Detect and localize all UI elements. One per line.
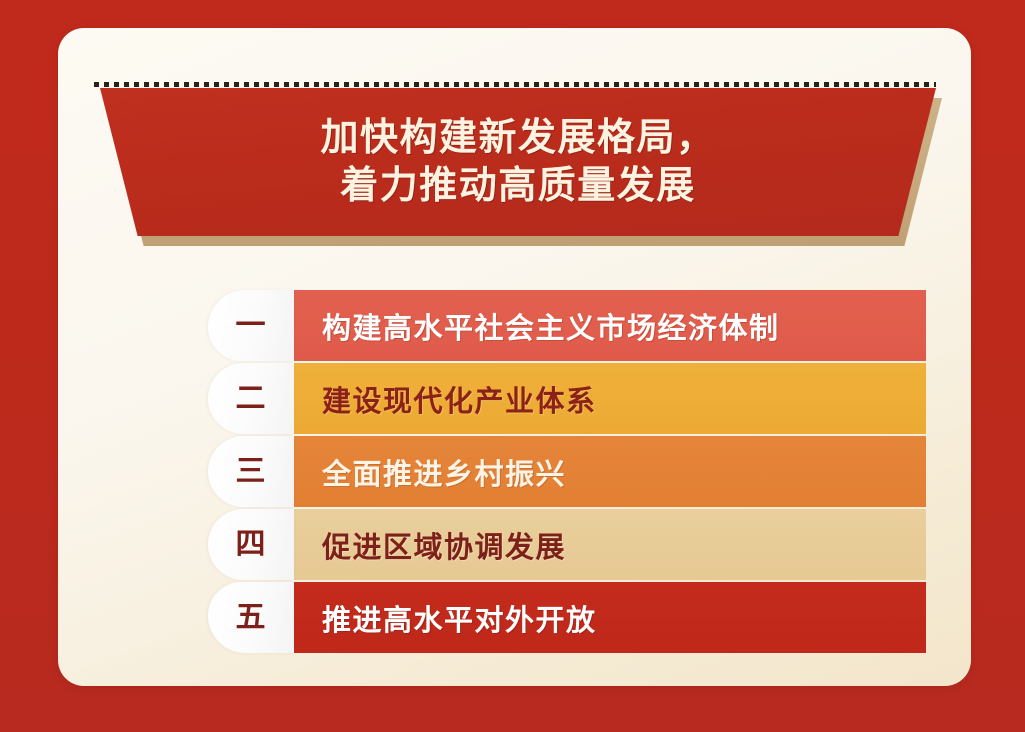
list-item-label: 全面推进乡村振兴 [322,451,566,493]
poster-stage: 加快构建新发展格局， 着力推动高质量发展 一 构建高水平社会主义市场经济体制 二… [0,0,1025,732]
list-item-bar: 建设现代化产业体系 [294,363,926,434]
poster-card: 加快构建新发展格局， 着力推动高质量发展 一 构建高水平社会主义市场经济体制 二… [58,28,971,686]
list-item-numeral-badge: 一 [208,290,294,361]
list-item-numeral: 一 [236,311,267,341]
list-item-numeral: 二 [236,384,267,414]
list-item-numeral: 五 [236,603,267,633]
list-item-label: 推进高水平对外开放 [322,597,597,639]
list-item-numeral: 四 [236,530,267,560]
list-item-numeral-badge: 二 [208,363,294,434]
list-item-label: 建设现代化产业体系 [322,378,597,420]
list-item[interactable]: 五 推进高水平对外开放 [208,582,926,653]
list-item-numeral-badge: 四 [208,509,294,580]
list-item-bar: 推进高水平对外开放 [294,582,926,653]
list-item-bar: 构建高水平社会主义市场经济体制 [294,290,926,361]
list-item-numeral-badge: 五 [208,582,294,653]
list-item-bar: 促进区域协调发展 [294,509,926,580]
list-item-label: 促进区域协调发展 [322,524,566,566]
title-banner: 加快构建新发展格局， 着力推动高质量发展 [100,88,936,248]
list-item-numeral-badge: 三 [208,436,294,507]
list-item-bar: 全面推进乡村振兴 [294,436,926,507]
list-item-label: 构建高水平社会主义市场经济体制 [322,305,780,347]
banner-title-line-1: 加快构建新发展格局， [320,115,715,161]
list-item[interactable]: 三 全面推进乡村振兴 [208,436,926,507]
list-item[interactable]: 一 构建高水平社会主义市场经济体制 [208,290,926,361]
list-item[interactable]: 四 促进区域协调发展 [208,509,926,580]
list-item[interactable]: 二 建设现代化产业体系 [208,363,926,434]
numbered-list: 一 构建高水平社会主义市场经济体制 二 建设现代化产业体系 三 [208,290,926,653]
list-item-numeral: 三 [236,457,267,487]
dotted-divider [94,82,936,87]
banner-title-line-2: 着力推动高质量发展 [340,163,696,209]
banner-text-block: 加快构建新发展格局， 着力推动高质量发展 [100,88,936,236]
